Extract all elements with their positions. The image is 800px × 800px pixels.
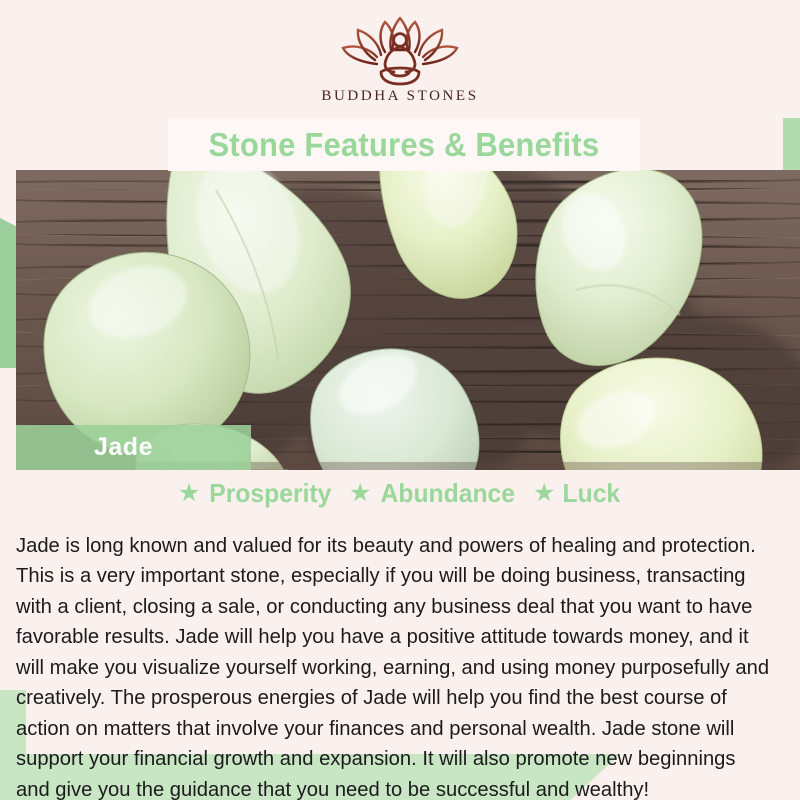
description-panel: Jade is long known and valued for its be… (16, 510, 786, 800)
lotus-meditation-icon (341, 14, 459, 86)
brand-logo: BUDDHA STONES (290, 14, 510, 105)
star-icon: ★ (349, 481, 371, 506)
stone-name-label: Jade (16, 425, 251, 470)
title-banner: Stone Features & Benefits (168, 119, 640, 171)
benefits-row: ★ Prosperity ★ Abundance ★ Luck (0, 478, 800, 509)
card-header: BUDDHA STONES (0, 0, 800, 118)
star-icon: ★ (533, 481, 555, 506)
brand-name: BUDDHA STONES (290, 88, 510, 105)
page-title: Stone Features & Benefits (209, 126, 600, 164)
description-text: Jade is long known and valued for its be… (16, 531, 774, 800)
benefit-label: Luck (563, 478, 621, 509)
benefit-label: Abundance (381, 478, 515, 509)
benefit-item-prosperity: ★ Prosperity (178, 478, 335, 509)
stone-name-text: Jade (94, 433, 153, 462)
star-icon: ★ (178, 481, 200, 506)
stone-info-card: BUDDHA STONES Stone Features & Benefits (0, 0, 800, 800)
benefit-item-abundance: ★ Abundance (349, 478, 519, 509)
benefit-label: Prosperity (210, 478, 332, 509)
benefit-item-luck: ★ Luck (533, 478, 622, 509)
